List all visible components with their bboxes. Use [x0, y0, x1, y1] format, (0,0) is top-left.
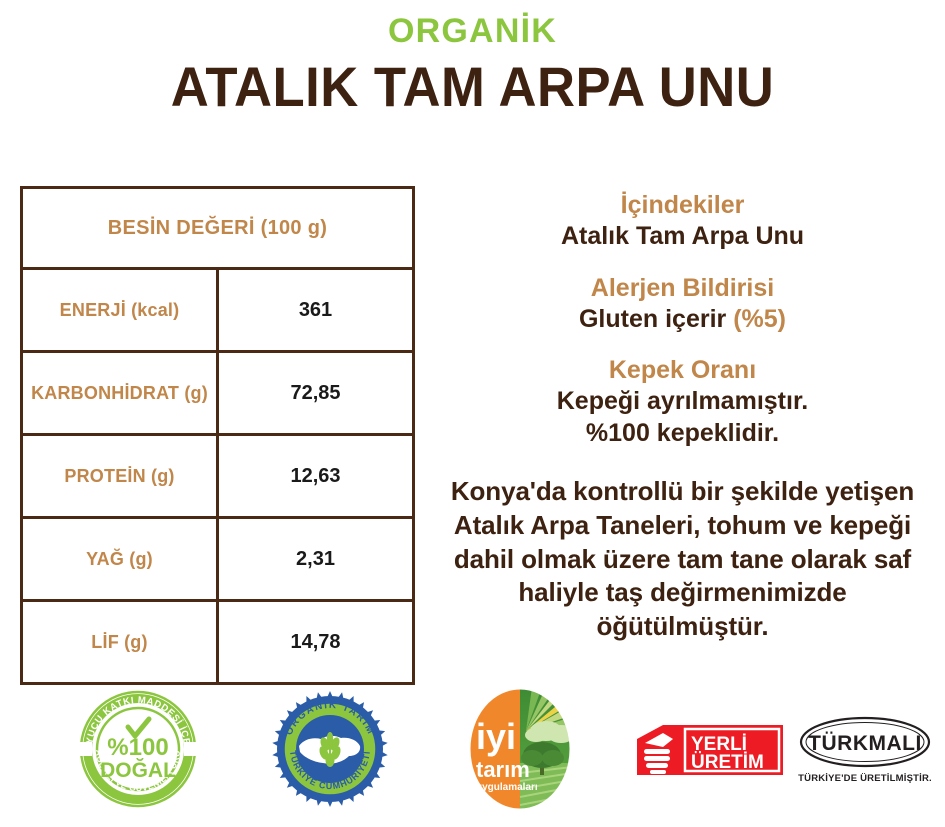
yerli-uretim-line-2: ÜRETİM — [691, 752, 764, 773]
nutrient-label-lif: LİF (g) — [23, 601, 218, 683]
bran-ratio-line-1: Kepeği ayrılmamıştır. — [430, 386, 935, 418]
allergen-text: Gluten içerir — [579, 305, 733, 333]
nutrient-value-yag: 2,31 — [218, 518, 413, 601]
allergen-heading: Alerjen Bildirisi — [430, 273, 935, 304]
table-head-row: BESİN DEĞERİ (100 g) — [23, 189, 412, 269]
nutrient-label-enerji: ENERJİ (kcal) — [23, 269, 218, 352]
bran-ratio-block: Kepek Oranı Kepeği ayrılmamıştır. %100 k… — [430, 355, 935, 449]
nutrient-value-karbonhidrat: 72,85 — [218, 352, 413, 435]
table-row: YAĞ (g) 2,31 — [23, 518, 412, 601]
iyi-tarim-line-2: tarım — [476, 757, 530, 782]
nutrition-table-heading: BESİN DEĞERİ (100 g) — [23, 189, 412, 269]
nutrient-value-lif: 14,78 — [218, 601, 413, 683]
bran-ratio-line-2: %100 kepeklidir. — [430, 418, 935, 450]
page-title: ATALIK TAM ARPA UNU — [28, 58, 916, 117]
dogal-badge-slot: KORUYUCU KATKI MADDESİ İÇERMEZ SAĞLIKLI … — [48, 686, 228, 811]
dogal-percent-text: %100 — [107, 734, 168, 761]
ingredients-block: İçindekiler Atalık Tam Arpa Unu — [430, 190, 935, 253]
label-header: ORGANİK ATALIK TAM ARPA UNU — [0, 14, 945, 117]
turkmali-slot: TÜRKMALI TÜRKİYE'DE ÜRETİLMİŞTİR. — [790, 686, 940, 811]
table-row: LİF (g) 14,78 — [23, 601, 412, 683]
nutrient-label-protein: PROTEİN (g) — [23, 435, 218, 518]
organik-tarim-slot: ORGANİK TARIM TÜRKİYE CUMHURİYETİ — [245, 686, 415, 811]
organik-tarim-seal-icon: ORGANİK TARIM TÜRKİYE CUMHURİYETİ — [271, 690, 389, 808]
organik-eyebrow: ORGANİK — [0, 14, 945, 48]
turkmali-caption-text: TÜRKİYE'DE ÜRETİLMİŞTİR. — [798, 773, 932, 784]
iyi-tarim-logo-icon: iyi tarım uygulamaları — [468, 687, 572, 811]
iyi-tarim-line-3: uygulamaları — [476, 782, 538, 793]
ingredients-value: Atalık Tam Arpa Unu — [430, 221, 935, 253]
nutrition-table: BESİN DEĞERİ (100 g) ENERJİ (kcal) 361 K… — [20, 186, 415, 685]
certification-logo-strip: KORUYUCU KATKI MADDESİ İÇERMEZ SAĞLIKLI … — [0, 686, 945, 816]
turkmali-logo-icon: TÜRKMALI — [797, 714, 933, 770]
table-row: PROTEİN (g) 12,63 — [23, 435, 412, 518]
nutrient-label-karbonhidrat: KARBONHİDRAT (g) — [23, 352, 218, 435]
ingredients-heading: İçindekiler — [430, 190, 935, 221]
allergen-block: Alerjen Bildirisi Gluten içerir (%5) — [430, 273, 935, 336]
table-row: ENERJİ (kcal) 361 — [23, 269, 412, 352]
product-info-column: İçindekiler Atalık Tam Arpa Unu Alerjen … — [430, 190, 935, 644]
product-description: Konya'da kontrollü bir şekilde yetişen A… — [430, 475, 935, 644]
iyi-tarim-line-1: iyi — [476, 716, 516, 757]
turkmali-mark-text: TÜRKMALI — [808, 732, 922, 755]
allergen-percentage: (%5) — [733, 305, 786, 333]
dogal-badge-icon: KORUYUCU KATKI MADDESİ İÇERMEZ SAĞLIKLI … — [76, 687, 200, 811]
yerli-uretim-logo-icon: YERLİ ÜRETİM — [633, 717, 793, 781]
dogal-label-text: DOĞAL — [100, 758, 176, 782]
nutrient-label-yag: YAĞ (g) — [23, 518, 218, 601]
table-row: KARBONHİDRAT (g) 72,85 — [23, 352, 412, 435]
allergen-value: Gluten içerir (%5) — [430, 304, 935, 336]
nutrient-value-enerji: 361 — [218, 269, 413, 352]
bran-ratio-heading: Kepek Oranı — [430, 355, 935, 386]
yerli-uretim-slot: YERLİ ÜRETİM — [625, 686, 800, 811]
nutrient-value-protein: 12,63 — [218, 435, 413, 518]
iyi-tarim-slot: iyi tarım uygulamaları — [440, 686, 600, 811]
